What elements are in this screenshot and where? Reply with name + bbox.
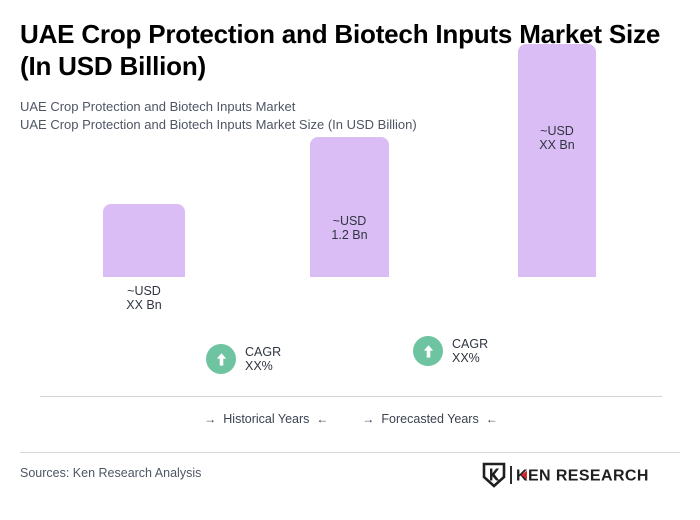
cagr-annotation-forecast: CAGR XX%: [413, 336, 488, 366]
arrow-right-icon: →: [204, 413, 216, 425]
cagr-annotation-forecast-line-1: CAGR: [452, 337, 488, 351]
bar-base-year[interactable]: [310, 137, 389, 277]
logo-separator: [510, 466, 512, 484]
bar-forecast[interactable]: [518, 44, 596, 277]
cagr-annotation-historical-line-1: CAGR: [245, 345, 281, 359]
cagr-annotation-historical: CAGR XX%: [206, 344, 281, 374]
ken-research-logo: KEN RESEARCH: [482, 462, 666, 488]
period-caption-forecast-label: Forecasted Years: [381, 412, 478, 426]
bar-value-label-base-year-line-1: ~USD: [310, 214, 389, 228]
bar-value-label-base-year: ~USD 1.2 Bn: [310, 214, 389, 242]
period-captions: → Historical Years ← → Forecasted Years …: [40, 409, 662, 429]
period-caption-historical-label: Historical Years: [223, 412, 309, 426]
bar-value-label-forecast-line-1: ~USD: [518, 124, 596, 138]
x-axis-baseline: [40, 396, 662, 397]
chart-page: UAE Crop Protection and Biotech Inputs M…: [0, 0, 700, 520]
bar-value-label-historical: ~USD XX Bn: [103, 284, 185, 312]
arrow-up-icon: [413, 336, 443, 366]
svg-text:KEN RESEARCH: KEN RESEARCH: [516, 468, 649, 485]
bar-value-label-base-year-line-2: 1.2 Bn: [310, 228, 389, 242]
ken-research-shield-icon: [482, 462, 506, 488]
cagr-annotation-historical-line-2: XX%: [245, 359, 281, 373]
bar-value-label-historical-line-1: ~USD: [103, 284, 185, 298]
footer-divider: [20, 452, 680, 453]
bar-value-label-forecast-line-2: XX Bn: [518, 138, 596, 152]
arrow-up-icon: [206, 344, 236, 374]
arrow-left-icon: ←: [316, 413, 328, 425]
sources-text: Sources: Ken Research Analysis: [20, 466, 201, 480]
bar-value-label-forecast: ~USD XX Bn: [518, 124, 596, 152]
period-caption-forecast: → Forecasted Years ←: [362, 412, 497, 426]
arrow-left-icon: ←: [486, 413, 498, 425]
arrow-right-icon: →: [362, 413, 374, 425]
cagr-annotation-historical-text: CAGR XX%: [245, 345, 281, 373]
period-caption-historical: → Historical Years ←: [204, 412, 328, 426]
bar-historical[interactable]: [103, 204, 185, 277]
bar-value-label-historical-line-2: XX Bn: [103, 298, 185, 312]
ken-research-wordmark: KEN RESEARCH: [516, 465, 666, 485]
cagr-annotation-forecast-line-2: XX%: [452, 351, 488, 365]
bar-chart-plot-area: ~USD XX Bn ~USD 1.2 Bn ~USD XX Bn CAGR X…: [0, 0, 700, 400]
cagr-annotation-forecast-text: CAGR XX%: [452, 337, 488, 365]
